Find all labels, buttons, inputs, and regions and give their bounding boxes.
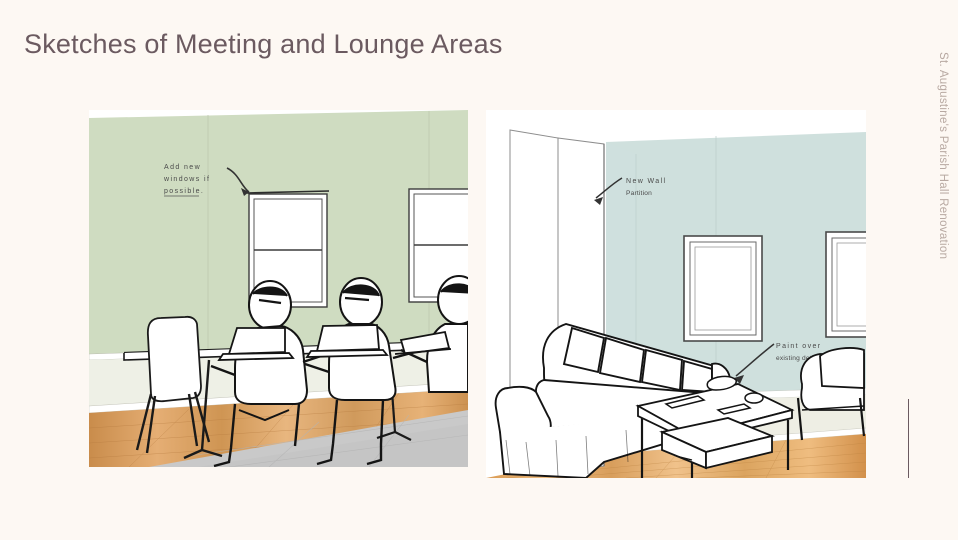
meeting-scene: Add new windows if possible.	[89, 110, 468, 467]
wall-panel-2	[826, 232, 866, 337]
lounge-scene: New Wall Partition Paint over existing d…	[486, 110, 866, 478]
slide-canvas: Sketches of Meeting and Lounge Areas St.…	[0, 0, 958, 540]
annotation-line-2: windows if	[163, 176, 210, 183]
decorative-vertical-rule	[908, 399, 909, 478]
sketch-lounge-area[interactable]: New Wall Partition Paint over existing d…	[486, 110, 866, 478]
annotation-line-1: Add new	[164, 164, 201, 171]
page-title: Sketches of Meeting and Lounge Areas	[24, 29, 503, 60]
annotation-line-2: Partition	[626, 190, 652, 197]
project-side-label: St. Augustine's Parish Hall Renovation	[937, 52, 949, 259]
annotation-line-1: New Wall	[626, 178, 667, 185]
annotation-line-1: Paint over	[776, 343, 822, 350]
annotation-line-3: possible.	[164, 188, 204, 195]
sketch-meeting-area[interactable]: Add new windows if possible.	[89, 110, 468, 467]
wall-panel-1	[684, 236, 762, 341]
